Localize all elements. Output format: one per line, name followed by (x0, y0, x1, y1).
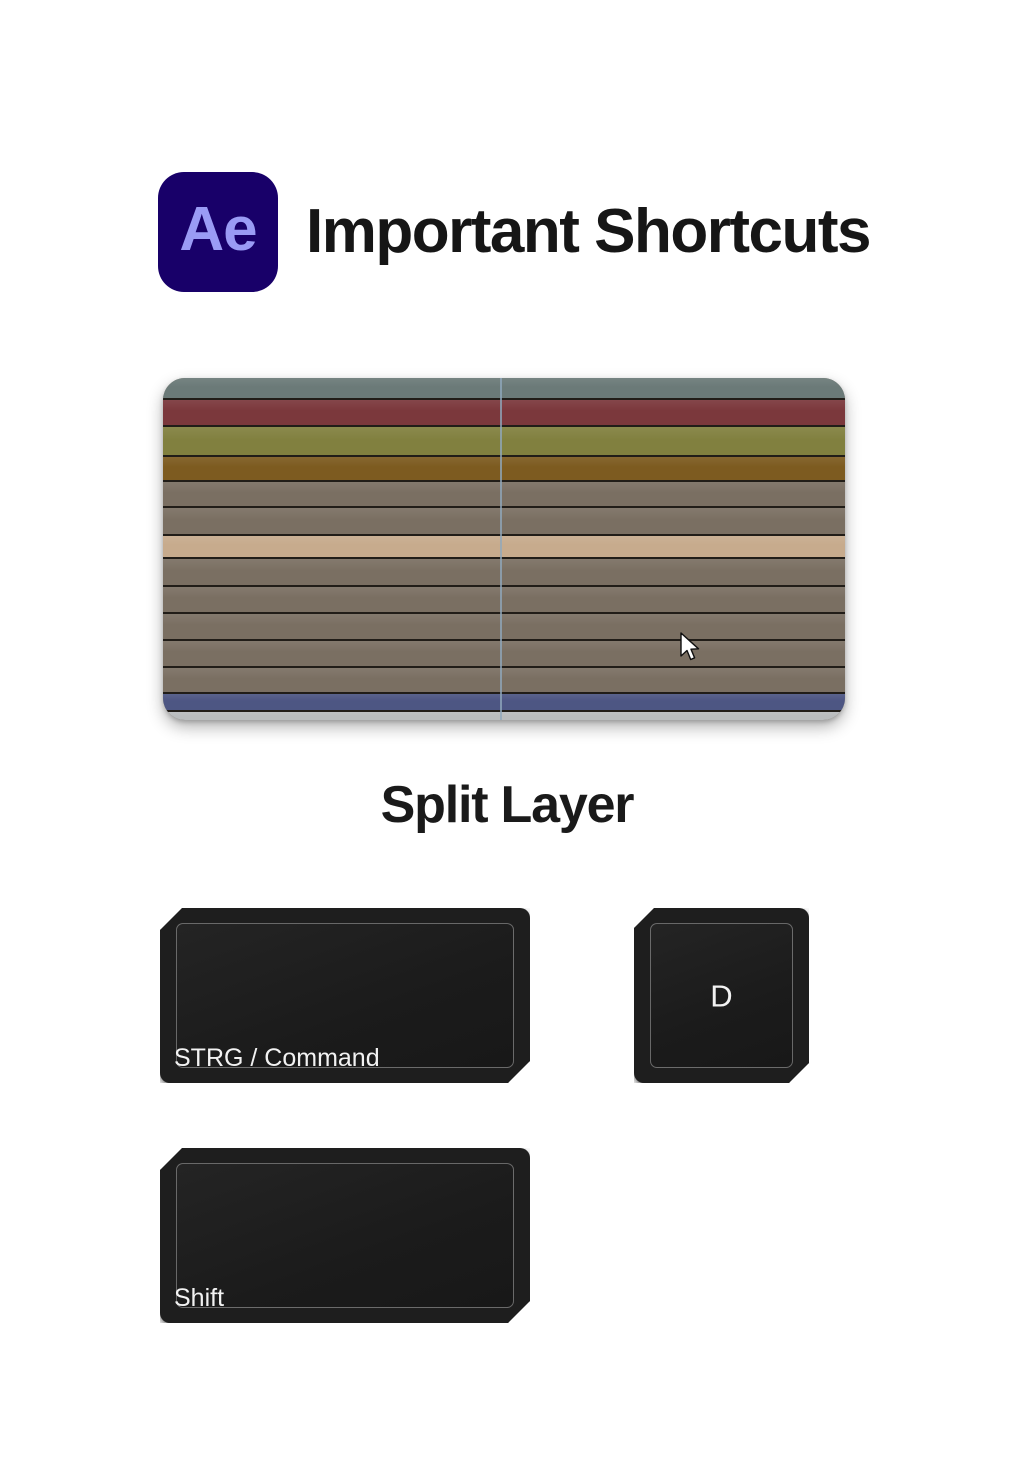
key-shift[interactable]: Shift (160, 1148, 530, 1323)
key-strg-command[interactable]: STRG / Command (160, 908, 530, 1083)
timeline-layer-row[interactable] (163, 536, 845, 559)
page-title: Important Shortcuts (306, 201, 870, 263)
layer-row-list (163, 378, 845, 720)
timeline-layer-row[interactable] (163, 457, 845, 482)
timeline-layer-row[interactable] (163, 614, 845, 641)
key-inner-bezel (176, 1163, 514, 1308)
key-label-d: D (634, 980, 809, 1011)
header: Ae Important Shortcuts (158, 172, 870, 292)
timeline-layer-row[interactable] (163, 559, 845, 587)
shortcut-card: Ae Important Shortcuts Split Layer STRG … (0, 0, 1014, 1473)
key-d[interactable]: D (634, 908, 809, 1083)
timeline-layer-row[interactable] (163, 400, 845, 427)
timeline-layer-row[interactable] (163, 378, 845, 400)
timeline-layer-row[interactable] (163, 482, 845, 508)
after-effects-app-icon: Ae (158, 172, 278, 292)
app-icon-label: Ae (179, 199, 256, 261)
shortcut-name-caption: Split Layer (0, 779, 1014, 831)
timeline-layer-stack[interactable] (163, 378, 845, 720)
key-label-shift: Shift (174, 1286, 224, 1311)
timeline-layer-row[interactable] (163, 641, 845, 668)
timeline-layer-row[interactable] (163, 712, 845, 720)
timeline-layer-row[interactable] (163, 587, 845, 614)
timeline-layer-row[interactable] (163, 668, 845, 694)
timeline-layer-row[interactable] (163, 694, 845, 712)
timeline-layer-row[interactable] (163, 427, 845, 457)
key-label-strg-command: STRG / Command (174, 1046, 380, 1071)
timeline-layer-row[interactable] (163, 508, 845, 536)
